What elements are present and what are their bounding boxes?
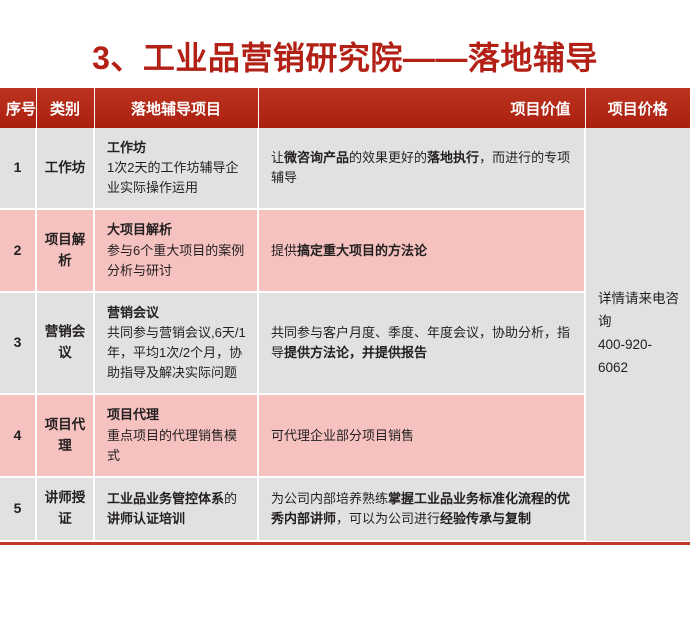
cell-sequence: 3: [0, 292, 36, 395]
cell-item: 营销会议共同参与营销会议,6天/1年，平均1次/2个月，协助指导及解决实际问题: [94, 292, 258, 395]
cell-item: 大项目解析参与6个重大项目的案例分析与研讨: [94, 209, 258, 291]
cell-category: 项目代理: [36, 394, 94, 476]
cell-item: 工作坊1次2天的工作坊辅导企业实际操作运用: [94, 128, 258, 209]
item-title: 项目代理: [107, 405, 247, 425]
table-row: 1工作坊工作坊1次2天的工作坊辅导企业实际操作运用让微咨询产品的效果更好的落地执…: [0, 128, 690, 209]
cell-price: 详情请来电咨询400-920-6062: [585, 128, 690, 541]
cell-category: 营销会议: [36, 292, 94, 395]
table-header-row: 序号 类别 落地辅导项目 项目价值 项目价格: [0, 88, 690, 128]
item-title: 大项目解析: [107, 220, 247, 240]
item-title: 营销会议: [107, 303, 247, 323]
price-phone-number[interactable]: 400-920-6062: [598, 334, 680, 380]
price-contact-label: 详情请来电咨询: [598, 288, 680, 334]
page-title-text: 3、工业品营销研究院——落地辅导: [92, 42, 598, 74]
item-title: 工作坊: [107, 138, 247, 158]
cell-value: 共同参与客户月度、季度、年度会议，协助分析，指导提供方法论，并提供报告: [258, 292, 585, 395]
cell-item: 项目代理重点项目的代理销售模式: [94, 394, 258, 476]
cell-value: 为公司内部培养熟练掌握工业品业务标准化流程的优秀内部讲师，可以为公司进行经验传承…: [258, 477, 585, 541]
slide-page: 3、工业品营销研究院——落地辅导 序号 类别 落地辅导项目 项目价值 项目价格 …: [0, 0, 690, 617]
cell-value: 让微咨询产品的效果更好的落地执行，而进行的专项辅导: [258, 128, 585, 209]
item-description: 共同参与营销会议,6天/1年，平均1次/2个月，协助指导及解决实际问题: [107, 323, 247, 383]
th-seq: 序号: [0, 88, 36, 128]
cell-value: 可代理企业部分项目销售: [258, 394, 585, 476]
table-head: 序号 类别 落地辅导项目 项目价值 项目价格: [0, 88, 690, 128]
cell-category: 讲师授证: [36, 477, 94, 541]
cell-sequence: 1: [0, 128, 36, 209]
cell-value: 提供搞定重大项目的方法论: [258, 209, 585, 291]
th-item: 落地辅导项目: [94, 88, 258, 128]
cell-sequence: 5: [0, 477, 36, 541]
page-title: 3、工业品营销研究院——落地辅导: [0, 34, 690, 82]
cell-category: 项目解析: [36, 209, 94, 291]
cell-sequence: 2: [0, 209, 36, 291]
item-description: 1次2天的工作坊辅导企业实际操作运用: [107, 158, 247, 198]
cell-category: 工作坊: [36, 128, 94, 209]
item-description: 重点项目的代理销售模式: [107, 426, 247, 466]
coaching-table: 序号 类别 落地辅导项目 项目价值 项目价格 1工作坊工作坊1次2天的工作坊辅导…: [0, 88, 690, 542]
th-price: 项目价格: [585, 88, 690, 128]
th-category: 类别: [36, 88, 94, 128]
th-value: 项目价值: [258, 88, 585, 128]
table-body: 1工作坊工作坊1次2天的工作坊辅导企业实际操作运用让微咨询产品的效果更好的落地执…: [0, 128, 690, 541]
cell-sequence: 4: [0, 394, 36, 476]
item-description: 参与6个重大项目的案例分析与研讨: [107, 241, 247, 281]
item-rich-text: 工业品业务管控体系的讲师认证培训: [107, 489, 247, 529]
coaching-table-wrapper: 序号 类别 落地辅导项目 项目价值 项目价格 1工作坊工作坊1次2天的工作坊辅导…: [0, 88, 690, 545]
cell-item: 工业品业务管控体系的讲师认证培训: [94, 477, 258, 541]
